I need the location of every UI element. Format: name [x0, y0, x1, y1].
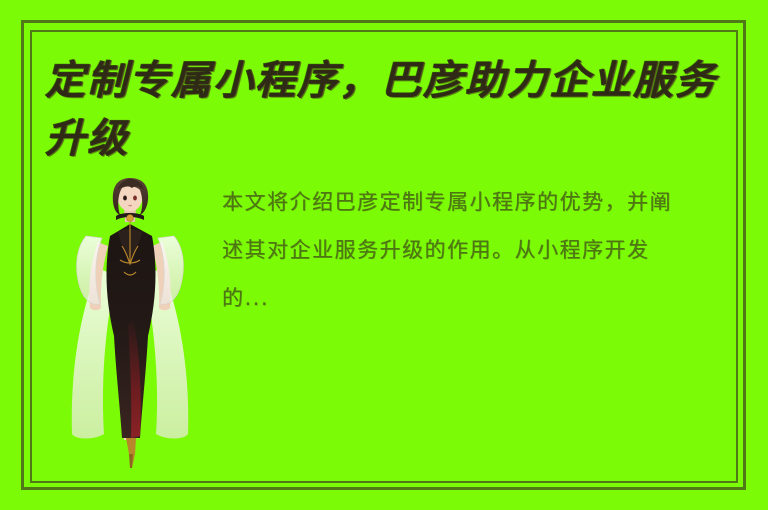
dress	[107, 220, 156, 438]
page-title: 定制专属小程序，巴彦助力企业服务升级	[45, 52, 745, 168]
shoe	[126, 438, 136, 468]
illustration-figure	[60, 172, 200, 472]
article-card: 定制专属小程序，巴彦助力企业服务升级	[0, 0, 768, 510]
article-excerpt: 本文将介绍巴彦定制专属小程序的优势，并阐述其对企业服务升级的作用。从小程序开发的…	[222, 178, 672, 322]
head	[113, 178, 148, 215]
